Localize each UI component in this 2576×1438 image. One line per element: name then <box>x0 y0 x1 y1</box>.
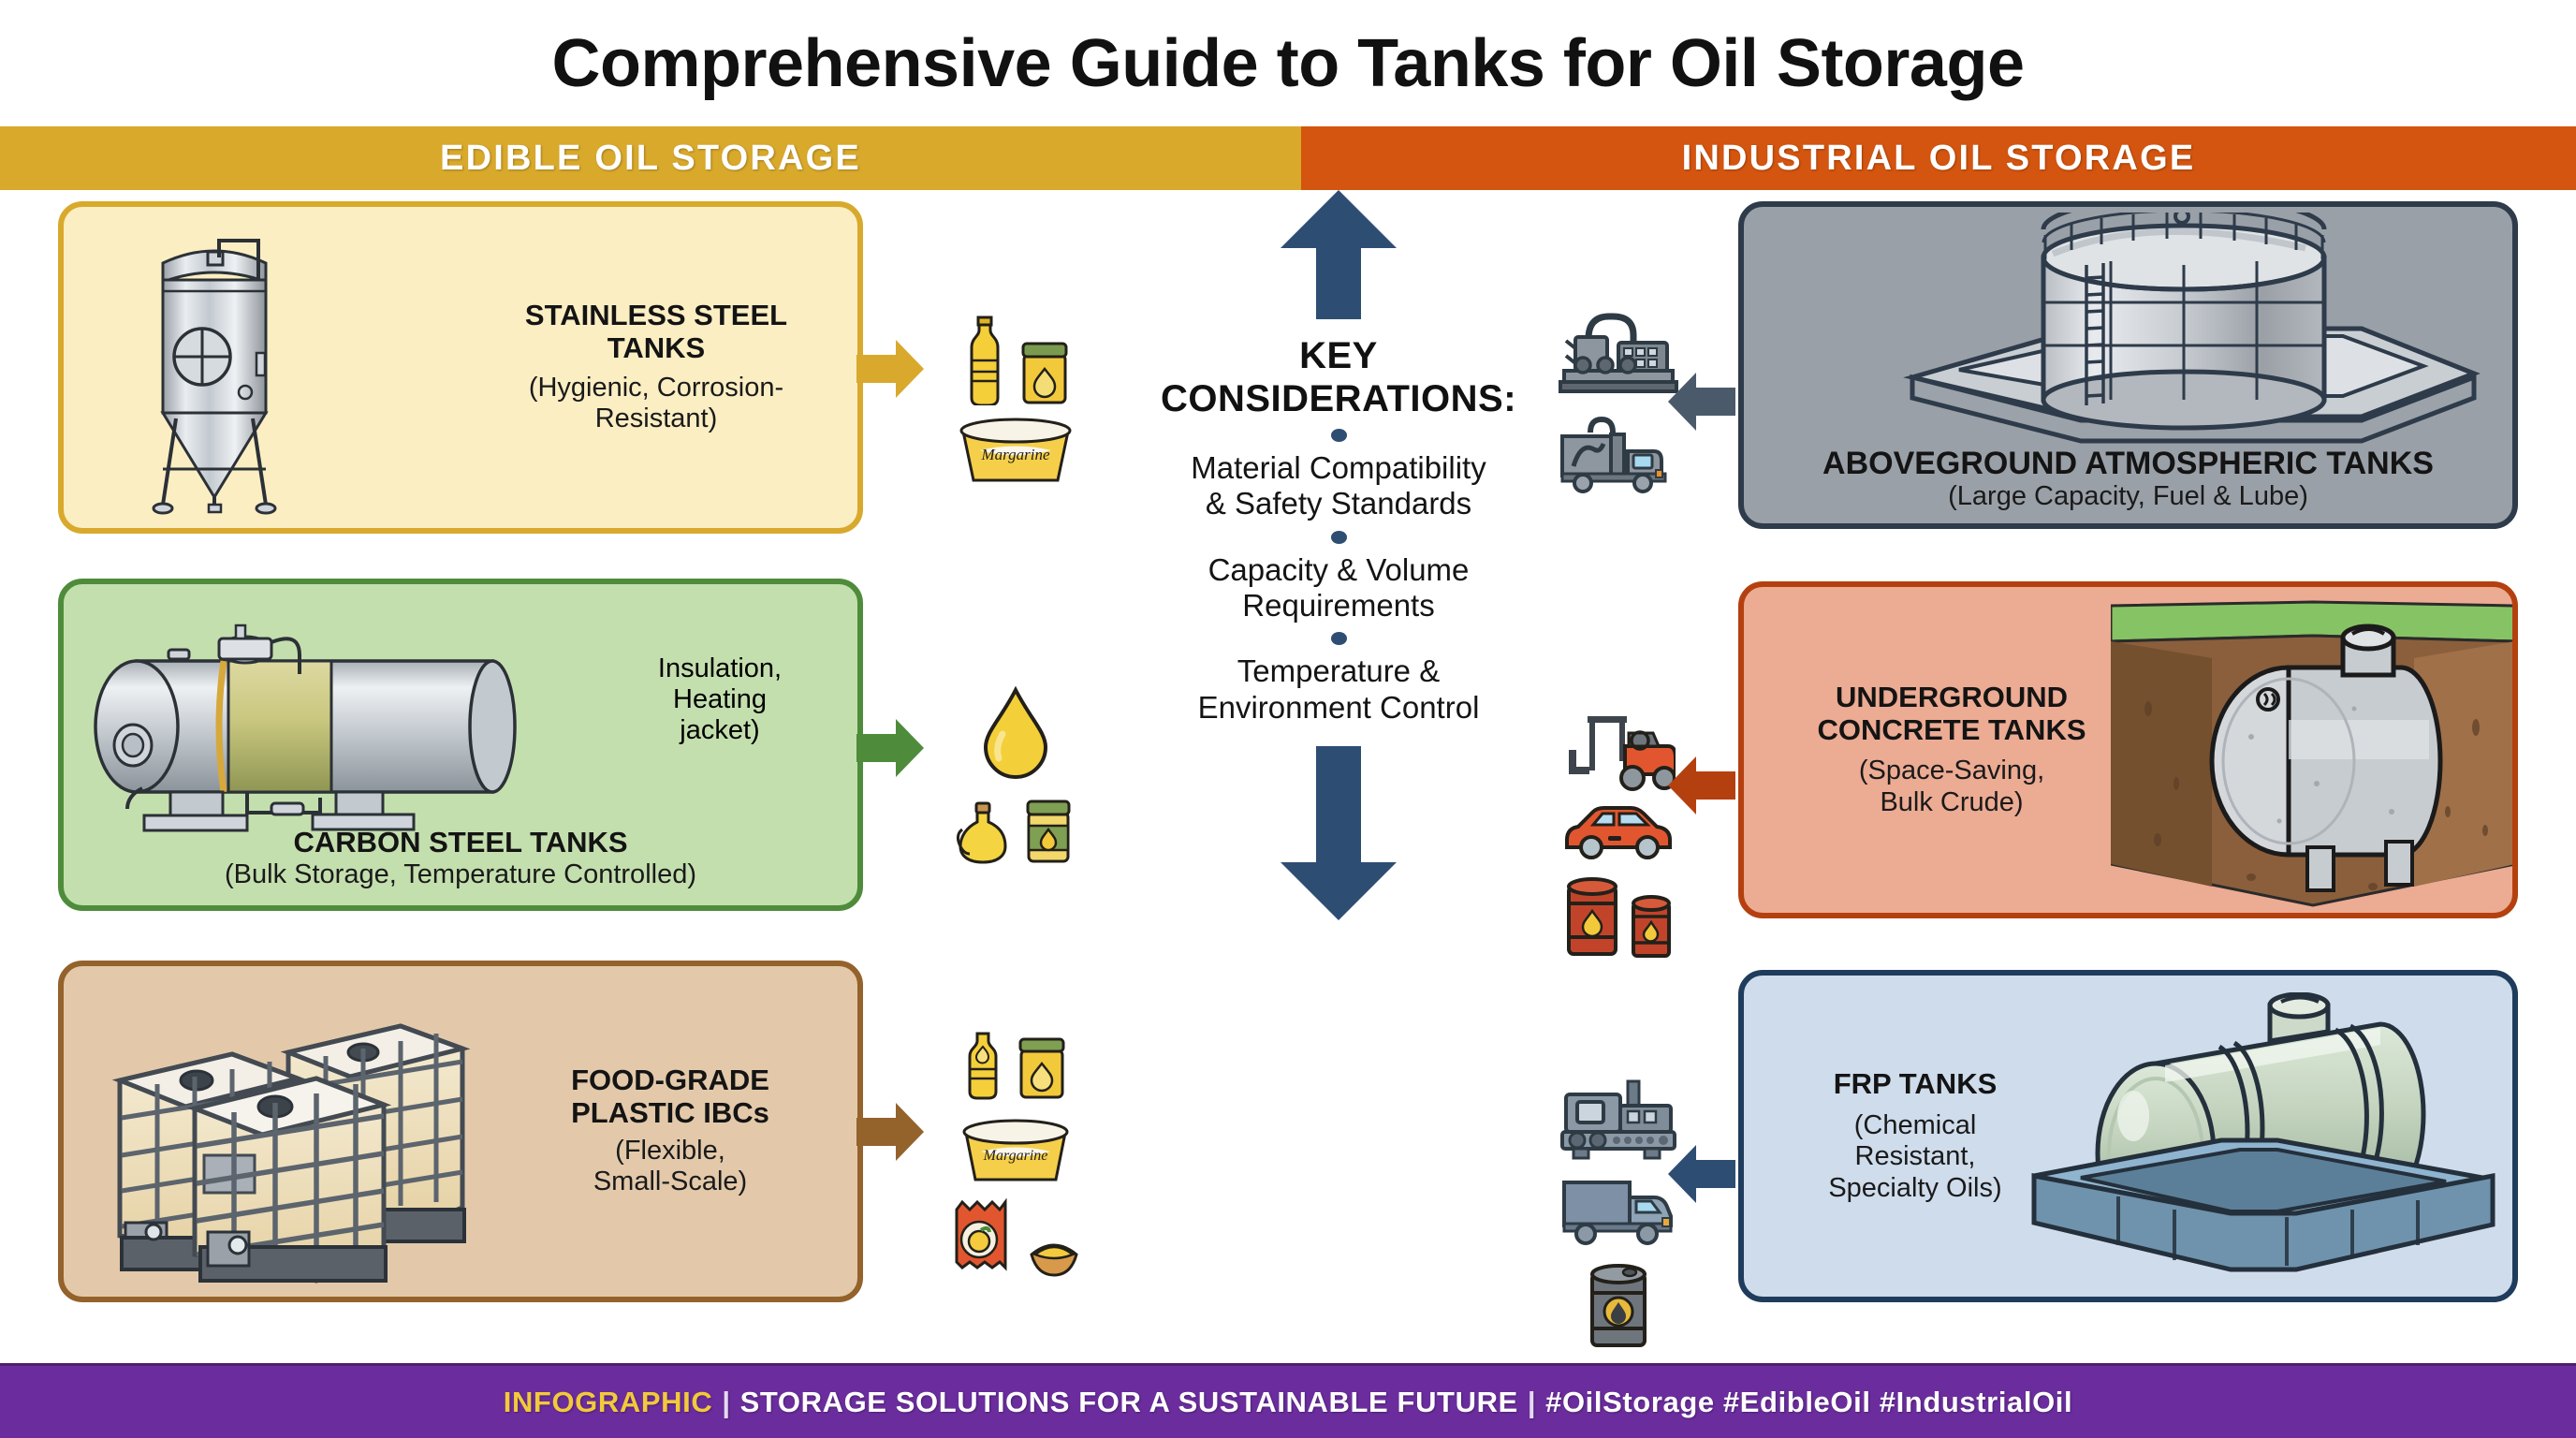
panel-underground-title-line1: UNDERGROUND <box>1768 682 2135 714</box>
bullet-icon <box>1331 531 1347 544</box>
band-edible-oil-storage: EDIBLE OIL STORAGE <box>0 126 1301 190</box>
down-arrow-icon <box>1281 746 1397 925</box>
arrow-stainless-to-products <box>856 340 924 403</box>
oil-drum-icon <box>1563 873 1621 960</box>
powder-bowl-icon <box>1024 1234 1084 1279</box>
carbon-note-line1: Insulation, <box>616 653 824 684</box>
frp-tank-in-containment-bund-illustration <box>2025 992 2518 1287</box>
key-item-3-line2: Environment Control <box>1198 690 1480 726</box>
panel-carbon-text: CARBON STEEL TANKS (Bulk Storage, Temper… <box>64 827 857 890</box>
carbon-note-line2: Heating <box>616 684 824 715</box>
forklift-icon <box>1561 712 1676 793</box>
carbon-side-note: Insulation, Heating jacket) <box>603 653 837 746</box>
panel-stainless-title-line2: TANKS <box>468 332 844 365</box>
footer-text: INFOGRAPHIC|STORAGE SOLUTIONS FOR A SUST… <box>504 1386 2073 1419</box>
main-content: STAINLESS STEEL TANKS (Hygienic, Corrosi… <box>0 190 2576 1363</box>
box-truck-icon <box>1559 1171 1677 1246</box>
panel-aboveground-atmospheric-tanks[interactable]: ABOVEGROUND ATMOSPHERIC TANKS (Large Cap… <box>1738 201 2518 529</box>
product-icons-edible-1: Margarine <box>936 302 1095 499</box>
footer-bar: INFOGRAPHIC|STORAGE SOLUTIONS FOR A SUST… <box>0 1363 2576 1438</box>
use-icons-industrial-3 <box>1529 1075 1707 1356</box>
panel-aboveground-subtitle: (Large Capacity, Fuel & Lube) <box>1744 481 2512 512</box>
horizontal-jacketed-tank-illustration <box>88 605 584 844</box>
title-bar: Comprehensive Guide to Tanks for Oil Sto… <box>0 0 2576 126</box>
page-title: Comprehensive Guide to Tanks for Oil Sto… <box>552 25 2025 102</box>
svg-text:Margarine: Margarine <box>983 1148 1048 1164</box>
product-icons-edible-2 <box>936 672 1095 878</box>
footer-hashtags: #OilStorage #EdibleOil #IndustrialOil <box>1545 1386 2072 1418</box>
panel-underground-subtitle-line2: Bulk Crude) <box>1768 787 2135 818</box>
buried-concrete-tank-cutaway-illustration <box>2111 596 2515 916</box>
panel-frp-text: FRP TANKS (Chemical Resistant, Specialty… <box>1761 1068 2070 1204</box>
key-item-3-line1: Temperature & <box>1198 653 1480 689</box>
refinery-plant-icon <box>1557 307 1680 399</box>
key-considerations-column: KEY CONSIDERATIONS: Material Compatibili… <box>1086 190 1591 1363</box>
up-arrow-icon <box>1281 190 1397 324</box>
large-cylindrical-bunded-tank-illustration <box>1903 213 2483 461</box>
key-considerations-title: KEY CONSIDERATIONS: <box>1161 335 1516 420</box>
key-item-2-line1: Capacity & Volume <box>1208 552 1470 588</box>
panel-frp-subtitle-line2: Resistant, <box>1774 1141 2056 1172</box>
carbon-note-line3: jacket) <box>616 715 824 746</box>
tanker-truck-icon <box>1557 412 1680 494</box>
panel-frp-title: FRP TANKS <box>1774 1068 2056 1101</box>
panel-carbon-subtitle: (Bulk Storage, Temperature Controlled) <box>64 859 857 890</box>
vertical-conical-steel-tank-illustration <box>97 224 331 528</box>
category-bands: EDIBLE OIL STORAGE INDUSTRIAL OIL STORAG… <box>0 126 2576 190</box>
product-icons-edible-3: Margarine <box>936 1014 1095 1295</box>
margarine-tub-icon: Margarine <box>957 1116 1075 1183</box>
oil-jar-icon <box>1014 1035 1070 1101</box>
key-title-line1: KEY <box>1161 335 1516 378</box>
panel-stainless-title-line1: STAINLESS STEEL <box>468 300 844 332</box>
key-item-1-line1: Material Compatibility <box>1191 450 1486 486</box>
snack-pack-icon <box>947 1198 1017 1279</box>
panel-frp-tanks[interactable]: FRP TANKS (Chemical Resistant, Specialty… <box>1738 970 2518 1302</box>
bullet-icon <box>1331 429 1347 442</box>
key-item-1: Material Compatibility & Safety Standard… <box>1191 450 1486 522</box>
arrow-frp-to-uses <box>1668 1145 1735 1208</box>
oil-droplet-icon <box>978 685 1053 779</box>
oil-drums-icon-row <box>1563 873 1674 960</box>
panel-stainless-text: STAINLESS STEEL TANKS (Hygienic, Corrosi… <box>455 300 857 434</box>
oil-drum-icon <box>1629 892 1674 960</box>
processing-plant-icon <box>1559 1078 1678 1162</box>
oil-bottle-icon <box>959 315 1010 405</box>
panel-underground-subtitle-line1: (Space-Saving, <box>1768 756 2135 786</box>
bullet-icon <box>1331 632 1347 645</box>
panel-underground-title-line2: CONCRETE TANKS <box>1768 714 2135 747</box>
oil-jar-icon <box>1017 340 1072 405</box>
panel-underground-concrete-tanks[interactable]: UNDERGROUND CONCRETE TANKS (Space-Saving… <box>1738 581 2518 918</box>
key-item-2: Capacity & Volume Requirements <box>1208 552 1470 624</box>
product-row-bottles-2 <box>955 798 1076 865</box>
svg-text:Margarine: Margarine <box>980 446 1049 463</box>
stacked-ibc-totes-illustration <box>92 987 560 1291</box>
car-icon <box>1559 802 1677 860</box>
footer-separator-2: | <box>1518 1386 1545 1418</box>
key-item-3: Temperature & Environment Control <box>1198 653 1480 726</box>
panel-carbon-steel-tanks[interactable]: Insulation, Heating jacket) CARBON STEEL… <box>58 579 863 911</box>
oil-bottle-icon <box>961 1030 1006 1101</box>
panel-stainless-subtitle: (Hygienic, Corrosion-Resistant) <box>468 373 844 435</box>
oil-drum-icon <box>1585 1259 1652 1353</box>
margarine-tub-icon: Margarine <box>954 415 1077 486</box>
arrow-underground-to-uses <box>1668 756 1735 819</box>
key-item-2-line2: Requirements <box>1208 588 1470 624</box>
panel-carbon-title: CARBON STEEL TANKS <box>64 827 857 859</box>
product-row-snack <box>947 1198 1084 1279</box>
use-icons-industrial-2 <box>1529 696 1707 976</box>
oil-jar-icon <box>1020 798 1076 865</box>
panel-aboveground-text: ABOVEGROUND ATMOSPHERIC TANKS (Large Cap… <box>1744 446 2512 512</box>
arrow-carbon-to-products <box>856 719 924 782</box>
product-row-bottles-3 <box>961 1030 1070 1101</box>
oil-cruet-icon <box>955 798 1013 865</box>
arrow-aboveground-to-uses <box>1668 373 1735 435</box>
product-row-bottles-1 <box>959 315 1072 405</box>
key-title-line2: CONSIDERATIONS: <box>1161 378 1516 421</box>
arrow-ibc-to-products <box>856 1103 924 1166</box>
key-item-1-line2: & Safety Standards <box>1191 486 1486 521</box>
footer-separator-1: | <box>712 1386 739 1418</box>
panel-stainless-steel-tanks[interactable]: STAINLESS STEEL TANKS (Hygienic, Corrosi… <box>58 201 863 534</box>
panel-food-grade-plastic-ibcs[interactable]: FOOD-GRADE PLASTIC IBCs (Flexible, Small… <box>58 961 863 1302</box>
band-industrial-oil-storage: INDUSTRIAL OIL STORAGE <box>1301 126 2576 190</box>
panel-frp-subtitle-line1: (Chemical <box>1774 1110 2056 1141</box>
footer-infographic-tag: INFOGRAPHIC <box>504 1386 713 1418</box>
panel-underground-text: UNDERGROUND CONCRETE TANKS (Space-Saving… <box>1755 682 2148 818</box>
footer-tagline: STORAGE SOLUTIONS FOR A SUSTAINABLE FUTU… <box>740 1386 1518 1418</box>
panel-aboveground-title: ABOVEGROUND ATMOSPHERIC TANKS <box>1744 446 2512 481</box>
panel-frp-subtitle-line3: Specialty Oils) <box>1774 1173 2056 1204</box>
